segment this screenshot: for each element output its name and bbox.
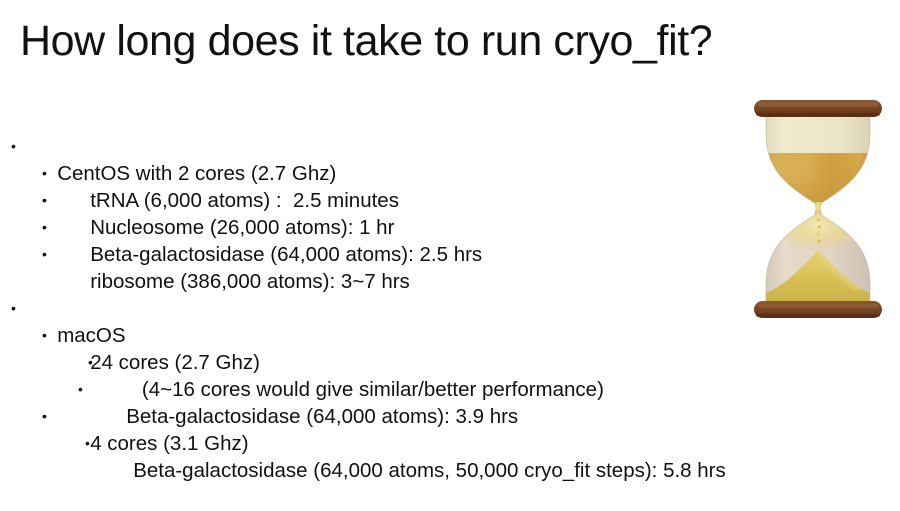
bullet-icon: • bbox=[85, 430, 90, 457]
list-item: • 24 cores (2.7 Ghz) bbox=[0, 295, 740, 322]
list-item-label: Beta-galactosidase (64,000 atoms): 2.5 h… bbox=[90, 241, 482, 268]
list-item: • macOS bbox=[0, 268, 740, 295]
list-item: • ribosome (386,000 atoms): 3~7 hrs bbox=[0, 214, 740, 241]
list-item: • tRNA (6,000 atoms) : 2.5 minutes bbox=[0, 133, 740, 160]
hourglass-icon bbox=[752, 98, 884, 320]
hourglass-upper-bulb bbox=[762, 106, 874, 218]
bullet-list: • CentOS with 2 cores (2.7 Ghz) • tRNA (… bbox=[0, 106, 740, 430]
list-item-label: Beta-galactosidase (64,000 atoms, 50,000… bbox=[133, 457, 726, 484]
list-item: • CentOS with 2 cores (2.7 Ghz) bbox=[0, 106, 740, 133]
hourglass-top-cap bbox=[754, 100, 882, 117]
list-item: • Beta-galactosidase (64,000 atoms): 3.9… bbox=[0, 349, 740, 376]
hourglass-bottom-cap bbox=[754, 301, 882, 318]
list-item: • (4~16 cores would give similar/better … bbox=[0, 322, 740, 349]
list-item: • Nucleosome (26,000 atoms): 1 hr bbox=[0, 160, 740, 187]
list-item: • Beta-galactosidase (64,000 atoms, 50,0… bbox=[0, 403, 740, 430]
presentation-slide: How long does it take to run cryo_fit? •… bbox=[0, 0, 900, 448]
list-item: • Beta-galactosidase (64,000 atoms): 2.5… bbox=[0, 187, 740, 214]
bullet-icon: • bbox=[42, 241, 47, 268]
list-item: • 4 cores (3.1 Ghz) bbox=[0, 376, 740, 403]
page-title: How long does it take to run cryo_fit? bbox=[20, 18, 760, 64]
hourglass-lower-bulb bbox=[762, 200, 874, 312]
